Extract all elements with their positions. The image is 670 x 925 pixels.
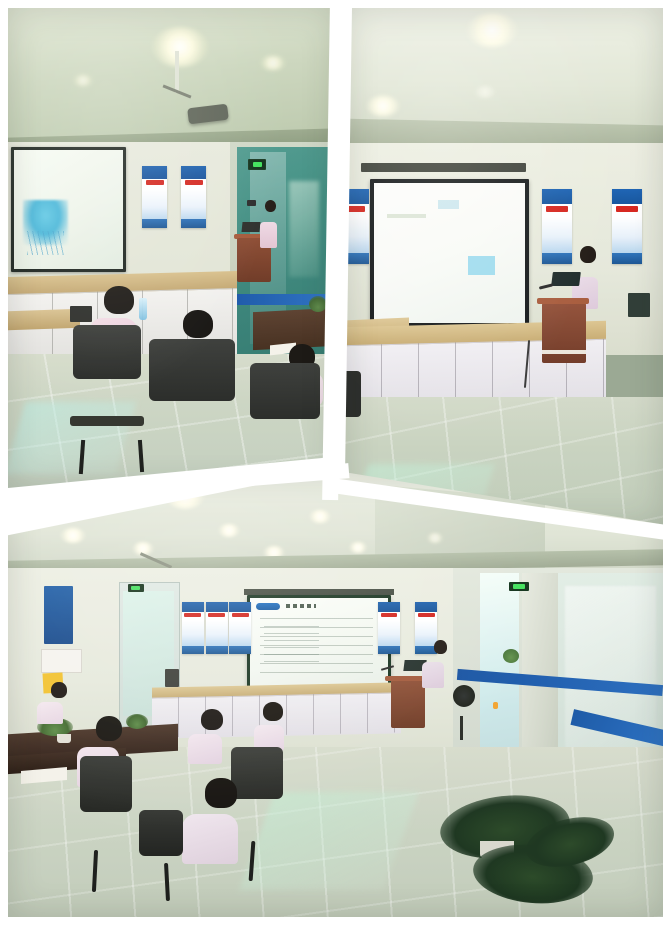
poster-header bbox=[542, 189, 572, 204]
poster-title-band bbox=[229, 613, 251, 621]
attendee-head bbox=[205, 778, 237, 808]
floor-reflection bbox=[8, 402, 136, 474]
poster-header bbox=[345, 189, 369, 204]
fan-pole bbox=[460, 716, 463, 740]
chair bbox=[250, 363, 320, 419]
poster-body bbox=[181, 189, 206, 219]
chair bbox=[345, 371, 361, 417]
poster-footer bbox=[542, 253, 572, 264]
poster-title-band bbox=[378, 613, 400, 621]
water-bottle bbox=[139, 298, 147, 320]
exit-sign-icon bbox=[248, 159, 266, 170]
slide-text-line bbox=[387, 214, 426, 218]
poster-footer bbox=[182, 646, 204, 654]
poster-title-band bbox=[142, 180, 167, 189]
wall-poster bbox=[542, 189, 572, 264]
poster-footer bbox=[206, 646, 228, 654]
ceiling-light-icon bbox=[427, 533, 443, 543]
podium bbox=[391, 680, 425, 728]
poster-body bbox=[182, 621, 204, 646]
poster-footer bbox=[229, 646, 251, 654]
poster-title-band bbox=[415, 613, 437, 621]
slide-block bbox=[468, 256, 495, 276]
poster-header bbox=[206, 602, 228, 612]
poster-footer bbox=[612, 253, 642, 264]
projection-screen bbox=[14, 150, 122, 269]
floor-fan bbox=[453, 685, 475, 707]
poster-body bbox=[142, 189, 167, 219]
potted-plant bbox=[503, 649, 519, 663]
scene-top-left bbox=[8, 8, 335, 488]
projection-screen-frame bbox=[370, 179, 529, 327]
poster-header bbox=[229, 602, 251, 612]
poster-footer bbox=[345, 253, 369, 264]
wall-poster bbox=[182, 602, 204, 654]
podium-trim bbox=[542, 350, 586, 354]
presenter-body bbox=[422, 662, 444, 688]
projection-screen-frame bbox=[11, 147, 125, 272]
projector-mount-pole bbox=[175, 51, 179, 93]
attendee-body bbox=[182, 814, 238, 864]
poster-title-band bbox=[612, 206, 642, 217]
chair-seat bbox=[70, 416, 144, 426]
attendee-head bbox=[51, 682, 67, 698]
attendee-head bbox=[201, 709, 223, 730]
poster-footer bbox=[142, 219, 167, 228]
projection-screen bbox=[250, 598, 388, 690]
ceiling-light-icon bbox=[466, 13, 518, 47]
ceiling-light-icon bbox=[260, 56, 286, 70]
podium bbox=[542, 303, 586, 363]
poster-body bbox=[378, 621, 400, 646]
podium-laptop bbox=[241, 222, 260, 232]
poster-header bbox=[378, 602, 400, 612]
wall-speaker bbox=[247, 200, 256, 206]
collage-photo-top-left bbox=[8, 8, 335, 488]
presenter-body bbox=[260, 222, 277, 248]
chair bbox=[139, 810, 183, 856]
wall-panel-box bbox=[41, 649, 82, 673]
ceiling-light-icon bbox=[349, 542, 367, 553]
slide-title-text bbox=[286, 604, 316, 609]
poster-header bbox=[182, 602, 204, 612]
scene-top-right bbox=[345, 8, 663, 526]
attendee-head bbox=[263, 702, 283, 721]
podium-top bbox=[537, 298, 589, 304]
ceiling-light-icon bbox=[475, 86, 495, 98]
slide-body-text bbox=[264, 626, 319, 663]
chair bbox=[80, 756, 132, 812]
poster-footer bbox=[378, 646, 400, 654]
attendee-body bbox=[188, 734, 222, 764]
projection-screen bbox=[374, 183, 525, 323]
poster-body bbox=[345, 217, 369, 253]
presenter-head bbox=[580, 246, 596, 263]
slide-logo bbox=[256, 603, 281, 610]
poster-body bbox=[612, 217, 642, 253]
exit-sign-icon bbox=[509, 582, 529, 591]
attendee-head bbox=[104, 286, 134, 314]
poster-body bbox=[206, 621, 228, 646]
ceiling-light-icon bbox=[152, 27, 208, 67]
poster-header bbox=[612, 189, 642, 204]
attendee-body bbox=[37, 702, 63, 724]
wall-poster bbox=[206, 602, 228, 654]
poster-header bbox=[142, 166, 167, 179]
slide-rain-graphic bbox=[27, 231, 64, 255]
floor-object bbox=[493, 702, 498, 709]
screen-roller-rail bbox=[361, 163, 526, 171]
wall-notice-board bbox=[44, 586, 73, 644]
poster-title-band bbox=[542, 206, 572, 217]
wall-poster bbox=[229, 602, 251, 654]
attendee-head bbox=[183, 310, 213, 338]
desk-monitor bbox=[628, 293, 650, 317]
poster-header bbox=[181, 166, 206, 179]
poster-title-band bbox=[345, 206, 369, 217]
wall-poster bbox=[142, 166, 167, 228]
presenter-head bbox=[265, 200, 276, 212]
poster-header bbox=[415, 602, 437, 612]
floor-speaker bbox=[165, 669, 179, 687]
poster-title-band bbox=[182, 613, 204, 621]
wall-poster bbox=[612, 189, 642, 264]
plant-pot bbox=[57, 734, 71, 743]
poster-title-band bbox=[206, 613, 228, 621]
wall-poster bbox=[181, 166, 206, 228]
slide-block bbox=[438, 200, 459, 210]
chair bbox=[231, 747, 283, 799]
poster-footer bbox=[181, 219, 206, 228]
chair bbox=[149, 339, 235, 401]
ceiling-light-icon bbox=[218, 524, 240, 537]
podium-top bbox=[385, 676, 427, 681]
poster-body bbox=[229, 621, 251, 646]
collage-photo-top-right bbox=[345, 8, 663, 526]
poster-body bbox=[542, 217, 572, 253]
desk-monitor bbox=[70, 306, 92, 322]
photo-collage bbox=[0, 0, 670, 925]
potted-plant bbox=[126, 714, 148, 729]
presenter-head bbox=[434, 640, 447, 654]
attendee-head bbox=[96, 716, 122, 741]
wall-poster bbox=[345, 189, 369, 264]
projection-screen-frame bbox=[247, 595, 391, 693]
chair bbox=[73, 325, 141, 379]
podium-laptop bbox=[551, 272, 581, 286]
scene-bottom bbox=[8, 470, 663, 917]
poster-title-band bbox=[181, 180, 206, 189]
glass-reflection bbox=[289, 181, 318, 277]
exit-sign-icon bbox=[128, 584, 144, 592]
wall-poster bbox=[378, 602, 400, 654]
collage-photo-bottom bbox=[8, 470, 663, 917]
